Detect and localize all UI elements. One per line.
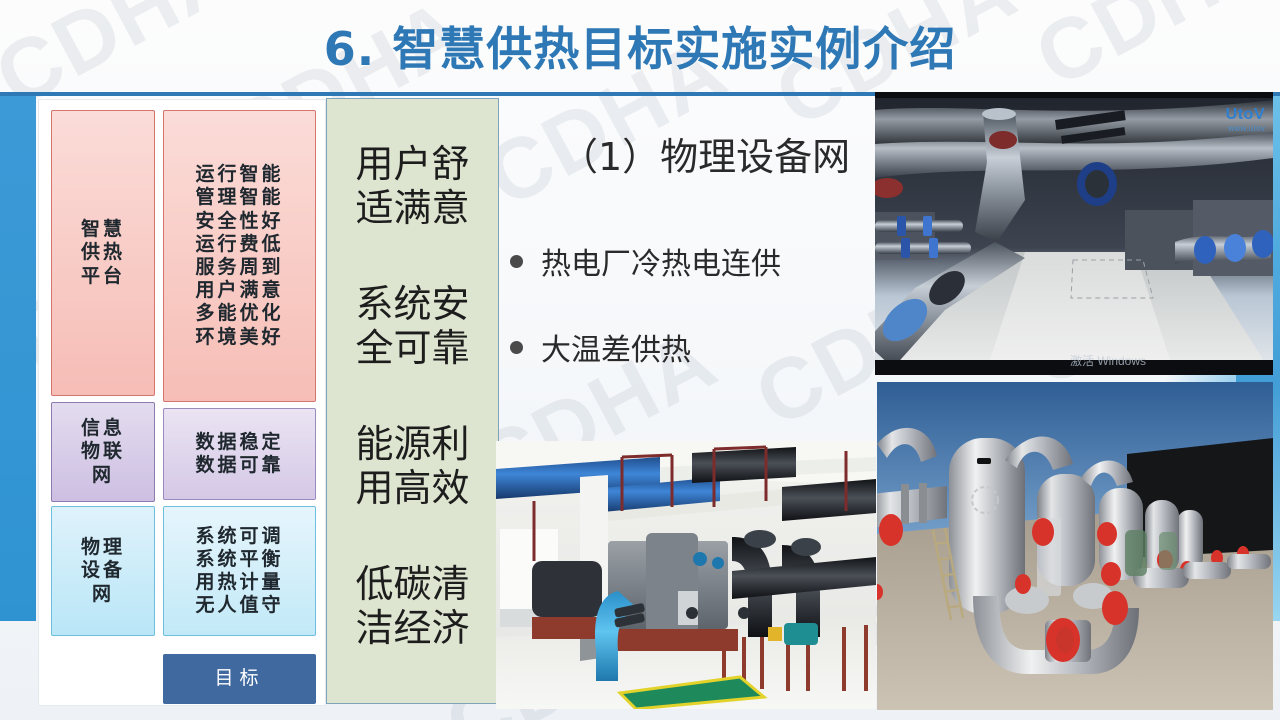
diagram-box-system-line: 无人值守 (195, 594, 283, 617)
goal-item-comfort-line: 用户舒 (355, 143, 469, 187)
goals-green-column: 用户舒 适满意 系统安 全可靠 能源利 用高效 低碳清 洁经济 (326, 98, 499, 704)
diagram-box-platform-line: 智慧 (81, 218, 125, 241)
goal-item-comfort-line: 适满意 (355, 187, 469, 231)
list-item-label: 热电厂冷热电连供 (541, 239, 781, 283)
utov-watermark-brand: UtoV (1226, 106, 1265, 124)
goal-item-lowcarbon-line: 低碳清 (355, 563, 469, 607)
diagram-box-platform-line: 供热 (81, 241, 125, 264)
diagram-box-target-label: 目标 (214, 667, 264, 690)
goal-item-safety-line: 全可靠 (355, 327, 469, 371)
diagram-box-info-iot: 信息 物联 网 (51, 402, 155, 502)
diagram-box-system-line: 系统可调 (195, 525, 283, 548)
diagram-box-goals: 运行智能 管理智能 安全性好 运行费低 服务周到 用户满意 多能优化 环境美好 (163, 110, 316, 402)
photo-machine-room (496, 441, 876, 709)
diagram-box-physical-net-line: 网 (81, 583, 125, 606)
diagram-box-system-line: 系统平衡 (195, 548, 283, 571)
photo-3d-pipe-network: UtoV www.utov 激活 Windows (875, 92, 1273, 375)
main-content: （1）物理设备网 热电厂冷热电连供 大温差供热 (500, 98, 878, 438)
list-item: 热电厂冷热电连供 (510, 239, 878, 283)
section-heading: （1）物理设备网 (560, 126, 878, 181)
diagram-box-info-iot-line: 网 (81, 464, 125, 487)
utov-watermark-url: www.utov (1226, 124, 1265, 133)
diagram-box-physical-net-line: 物理 (81, 536, 125, 559)
diagram-box-goals-line: 环境美好 (195, 326, 283, 349)
diagram-box-data: 数据稳定 数据可靠 (163, 408, 316, 500)
bullet-dot-icon (510, 341, 523, 354)
diagram-box-goals-line: 服务周到 (195, 256, 283, 279)
goal-item-lowcarbon-line: 洁经济 (355, 607, 469, 651)
photo-3d-heat-exchangers (877, 382, 1273, 710)
list-item: 大温差供热 (510, 325, 878, 369)
bullet-list: 热电厂冷热电连供 大温差供热 (510, 239, 878, 369)
diagram-box-data-line: 数据可靠 (195, 454, 283, 477)
diagram-box-info-iot-line: 信息 (81, 417, 125, 440)
diagram-box-goals-line: 多能优化 (195, 302, 283, 325)
diagram-box-goals-line: 运行费低 (195, 233, 283, 256)
goal-item-efficiency-line: 用高效 (355, 467, 469, 511)
diagram-box-goals-line: 用户满意 (195, 279, 283, 302)
windows-activation-watermark: 激活 Windows (1070, 352, 1146, 369)
goal-item-lowcarbon: 低碳清 洁经济 (355, 563, 469, 650)
goal-item-efficiency-line: 能源利 (355, 423, 469, 467)
diagram-box-target: 目标 (163, 654, 316, 704)
diagram-box-goals-line: 管理智能 (195, 186, 283, 209)
diagram-box-info-iot-line: 物联 (81, 440, 125, 463)
diagram-box-goals-line: 运行智能 (195, 163, 283, 186)
smart-heating-diagram: 智慧 供热 平台 运行智能 管理智能 安全性好 运行费低 服务周到 用户满意 多… (38, 99, 326, 706)
page-title: 6. 智慧供热目标实施实例介绍 (324, 13, 957, 79)
diagram-box-system-line: 用热计量 (195, 571, 283, 594)
photo-3d-pipe-network-graphic (875, 92, 1273, 375)
slide-canvas: CDHA CDHA CDHA CDHA CDHA CDHA CDHA CDHA … (0, 0, 1280, 720)
diagram-box-platform: 智慧 供热 平台 (51, 110, 155, 396)
left-accent-bar (0, 96, 36, 621)
goal-item-safety: 系统安 全可靠 (355, 283, 469, 370)
diagram-box-data-line: 数据稳定 (195, 431, 283, 454)
photo-3d-heat-exchangers-graphic (877, 382, 1273, 710)
photo-machine-room-graphic (496, 441, 876, 709)
goal-item-efficiency: 能源利 用高效 (355, 423, 469, 510)
goal-item-comfort: 用户舒 适满意 (355, 143, 469, 230)
diagram-box-physical-net: 物理 设备 网 (51, 506, 155, 636)
diagram-box-platform-line: 平台 (81, 265, 125, 288)
utov-watermark: UtoV www.utov (1226, 106, 1265, 133)
bullet-dot-icon (510, 255, 523, 268)
diagram-box-goals-line: 安全性好 (195, 210, 283, 233)
slide-title-bar: 6. 智慧供热目标实施实例介绍 (0, 0, 1280, 92)
diagram-box-system: 系统可调 系统平衡 用热计量 无人值守 (163, 506, 316, 636)
list-item-label: 大温差供热 (541, 325, 691, 369)
goal-item-safety-line: 系统安 (355, 283, 469, 327)
diagram-box-physical-net-line: 设备 (81, 559, 125, 582)
